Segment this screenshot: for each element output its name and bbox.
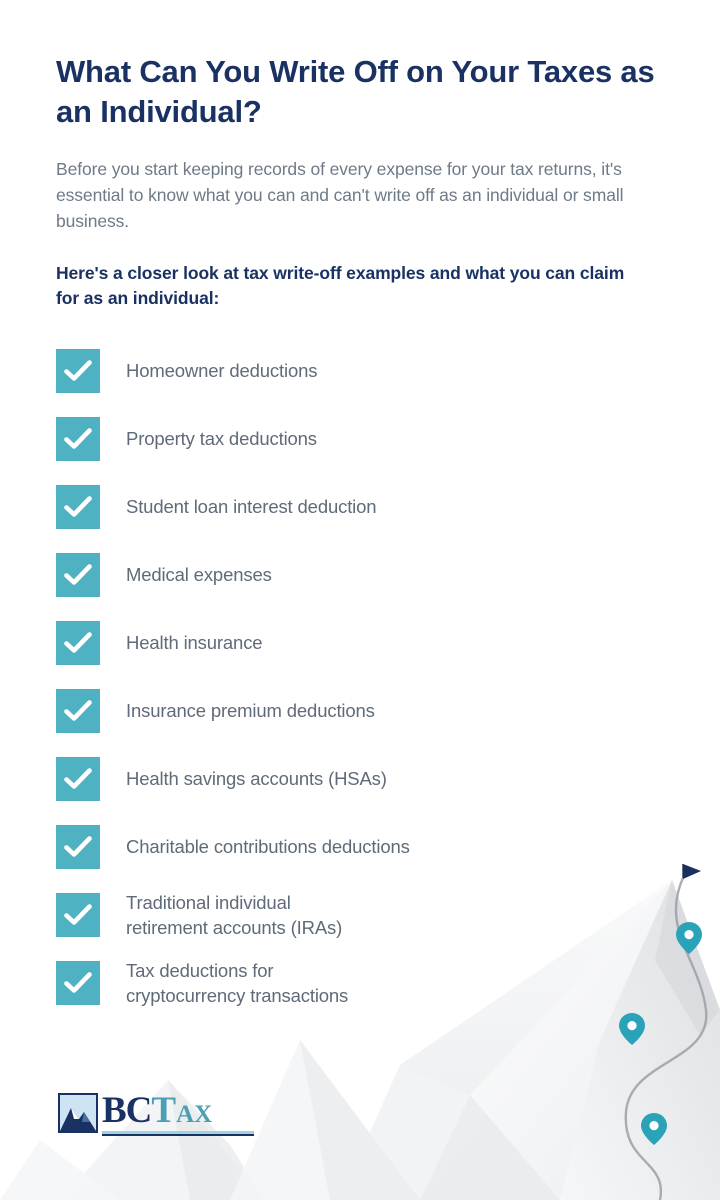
check-icon [56, 485, 100, 529]
logo-underline [102, 1131, 254, 1136]
list-item[interactable]: Tax deductions for cryptocurrency transa… [56, 949, 664, 1017]
check-icon [56, 825, 100, 869]
logo-ax-text: AX [176, 1101, 212, 1128]
list-item[interactable]: Insurance premium deductions [56, 677, 664, 745]
checklist: Homeowner deductions Property tax deduct… [56, 337, 664, 1017]
check-icon [56, 893, 100, 937]
check-icon [56, 417, 100, 461]
check-icon [56, 349, 100, 393]
list-item[interactable]: Student loan interest deduction [56, 473, 664, 541]
list-item-label: Traditional individual retirement accoun… [126, 890, 342, 941]
logo-bc-text: BC [102, 1090, 151, 1131]
list-item[interactable]: Homeowner deductions [56, 337, 664, 405]
check-icon [56, 757, 100, 801]
bctax-logo[interactable]: BCTAX [58, 1093, 254, 1136]
intro-paragraph: Before you start keeping records of ever… [56, 157, 646, 234]
list-item-label: Tax deductions for cryptocurrency transa… [126, 958, 348, 1009]
list-item[interactable]: Charitable contributions deductions [56, 813, 664, 881]
logo-t-text: T [151, 1090, 176, 1131]
list-item[interactable]: Traditional individual retirement accoun… [56, 881, 664, 949]
map-pin-icon [641, 1113, 667, 1145]
check-icon [56, 553, 100, 597]
check-icon [56, 689, 100, 733]
list-item-label: Insurance premium deductions [126, 698, 375, 724]
list-item[interactable]: Medical expenses [56, 541, 664, 609]
list-item[interactable]: Health savings accounts (HSAs) [56, 745, 664, 813]
check-icon [56, 961, 100, 1005]
list-item[interactable]: Health insurance [56, 609, 664, 677]
list-item-label: Health insurance [126, 630, 262, 656]
map-pin-icon [619, 1013, 645, 1045]
page-title: What Can You Write Off on Your Taxes as … [56, 52, 664, 131]
check-icon [56, 621, 100, 665]
list-item-label: Charitable contributions deductions [126, 834, 410, 860]
subheading: Here's a closer look at tax write-off ex… [56, 261, 636, 312]
list-item-label: Health savings accounts (HSAs) [126, 766, 387, 792]
list-item-label: Property tax deductions [126, 426, 317, 452]
list-item-label: Homeowner deductions [126, 358, 317, 384]
list-item-label: Medical expenses [126, 562, 272, 588]
infographic-content: What Can You Write Off on Your Taxes as … [0, 0, 720, 1017]
list-item[interactable]: Property tax deductions [56, 405, 664, 473]
mountain-icon [58, 1093, 98, 1133]
list-item-label: Student loan interest deduction [126, 494, 376, 520]
logo-wordmark: BCTAX [102, 1093, 254, 1136]
